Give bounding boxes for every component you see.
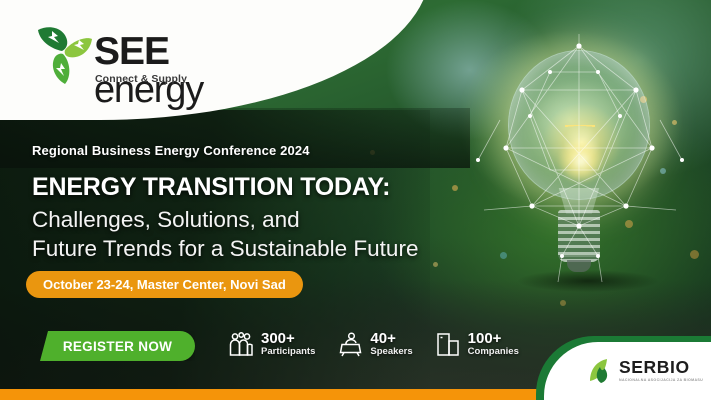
subheadline-line-2: Future Trends for a Sustainable Future <box>32 234 418 263</box>
speaker-podium-icon <box>337 331 363 357</box>
date-venue-badge: October 23-24, Master Center, Novi Sad <box>26 271 303 298</box>
stat-text: 300+ Participants <box>261 331 315 357</box>
logo-wordmark: SEEenergy <box>94 32 262 109</box>
subheadline: Challenges, Solutions, and Future Trends… <box>32 205 418 264</box>
lightbulb-graphic <box>470 20 690 350</box>
serbio-tagline: NACIONALNA ASOCIJACIJA ZA BIOMASU <box>619 379 703 383</box>
stat-value: 300+ <box>261 331 315 347</box>
seeenergy-logo[interactable]: SEEenergy Connect & Supply <box>32 18 262 90</box>
serbio-leaf-flame-icon <box>588 358 613 385</box>
stat-value: 100+ <box>468 331 519 347</box>
stat-label: Participants <box>261 347 315 357</box>
polygon-network-overlay <box>470 20 690 350</box>
event-kicker: Regional Business Energy Conference 2024 <box>32 143 310 158</box>
stat-label: Companies <box>468 347 519 357</box>
stat-value: 40+ <box>370 331 412 347</box>
serbio-text: SERBIO NACIONALNA ASOCIJACIJA ZA BIOMASU <box>619 359 703 382</box>
headline: ENERGY TRANSITION TODAY: <box>32 173 390 202</box>
companies-buildings-icon <box>435 331 461 357</box>
logo-see-text: SEE <box>94 32 169 71</box>
register-now-button[interactable]: REGISTER NOW <box>40 331 195 361</box>
stat-participants: 300+ Participants <box>228 331 315 357</box>
three-leaf-energy-icon <box>32 18 94 88</box>
stat-label: Speakers <box>370 347 412 357</box>
conference-banner: SEEenergy Connect & Supply Regional Busi… <box>0 0 711 400</box>
stat-companies: 100+ Companies <box>435 331 519 357</box>
subheadline-line-1: Challenges, Solutions, and <box>32 205 418 234</box>
serbio-name: SERBIO <box>619 359 703 377</box>
stat-text: 100+ Companies <box>468 331 519 357</box>
stats-row: 300+ Participants 40+ Speakers <box>228 331 519 357</box>
stat-speakers: 40+ Speakers <box>337 331 412 357</box>
logo-tagline: Connect & Supply <box>95 73 187 85</box>
participants-people-icon <box>228 331 254 357</box>
serbio-partner-logo[interactable]: SERBIO NACIONALNA ASOCIJACIJA ZA BIOMASU <box>544 342 711 400</box>
stat-text: 40+ Speakers <box>370 331 412 357</box>
